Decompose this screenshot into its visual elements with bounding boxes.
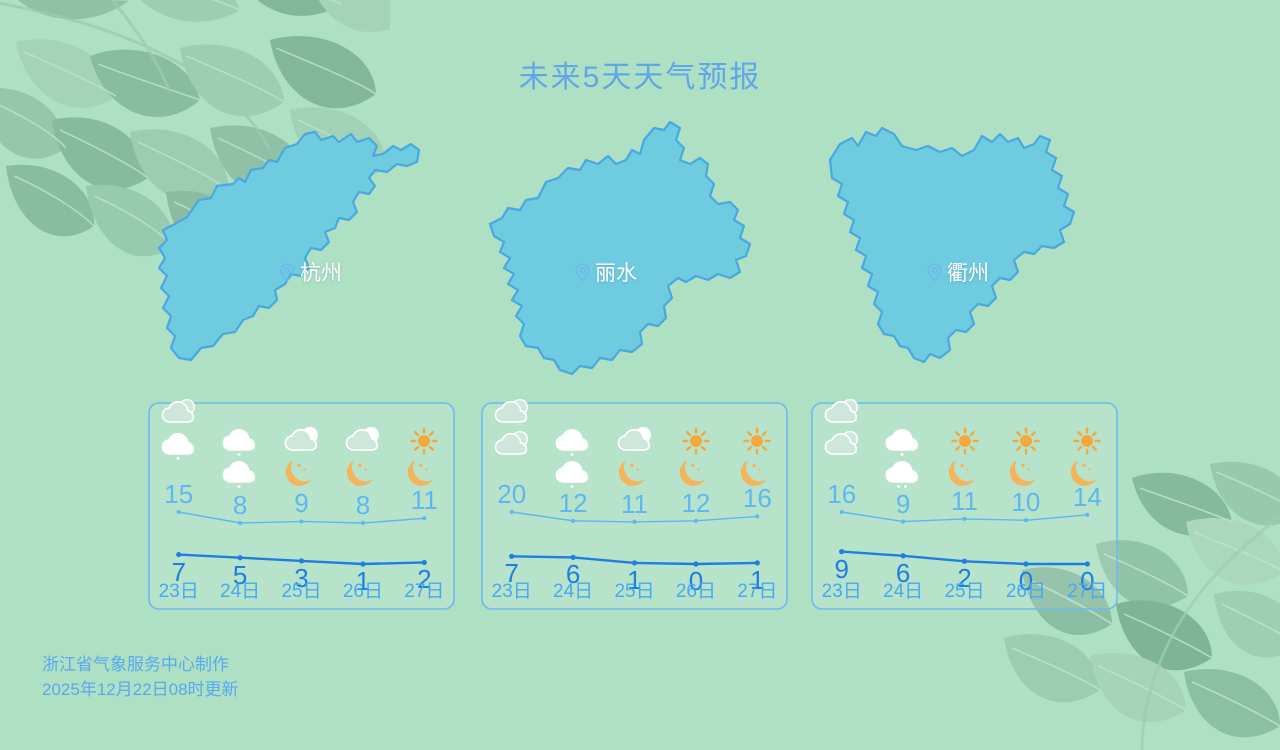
city-name: 丽水	[595, 257, 637, 287]
quzhou-map-shape	[812, 120, 1152, 390]
night-weather-icon	[492, 430, 532, 462]
forecast-day: 11125日	[604, 402, 665, 610]
forecast-day: 12026日	[665, 402, 726, 610]
date-label: 25日	[281, 576, 321, 603]
forecast-day-row: 16923日9624日11225日10026日14027日	[811, 402, 1118, 610]
high-temperature: 12	[681, 488, 710, 519]
infographic-canvas: 未来5天天气预报 杭州 丽水	[0, 0, 1280, 720]
night-weather-icon	[343, 458, 383, 490]
forecast-panel-hangzhou: 15723日8524日9325日8126日11227日	[148, 402, 455, 610]
day-weather-icon	[945, 426, 985, 458]
city-label-hangzhou: 杭州	[280, 257, 342, 287]
forecast-day: 11225日	[934, 402, 995, 610]
forecast-day: 16923日	[811, 402, 872, 610]
night-weather-icon	[282, 458, 322, 490]
high-temperature: 20	[497, 479, 526, 510]
high-temperature: 8	[233, 490, 247, 521]
date-label: 25日	[944, 576, 984, 603]
forecast-day: 10026日	[995, 402, 1056, 610]
night-weather-icon	[1006, 458, 1046, 490]
date-label: 26日	[343, 576, 383, 603]
cloudy-icon	[822, 398, 862, 430]
date-label: 27日	[737, 576, 777, 603]
sun-icon	[737, 426, 777, 458]
day-weather-icon	[1067, 426, 1107, 458]
date-label: 24日	[553, 576, 593, 603]
date-label: 23日	[159, 576, 199, 603]
forecast-day: 16127日	[727, 402, 788, 610]
footer-line-1: 浙江省气象服务中心制作	[42, 652, 239, 677]
night-weather-icon	[615, 458, 655, 490]
high-temperature: 11	[411, 485, 438, 516]
forecast-day-row: 20723日12624日11125日12026日16127日	[481, 402, 788, 610]
moon-icon	[676, 458, 716, 490]
date-label: 24日	[220, 576, 260, 603]
date-label: 27日	[404, 576, 444, 603]
rain-icon	[883, 426, 923, 458]
moon-icon	[343, 458, 383, 490]
day-weather-icon	[822, 398, 862, 430]
day-weather-icon	[737, 426, 777, 458]
partly-cloudy-icon	[282, 426, 322, 458]
high-temperature: 11	[621, 489, 648, 520]
city-label-lishui: 丽水	[575, 257, 637, 287]
high-temperature: 16	[827, 479, 856, 510]
rain-icon	[220, 426, 260, 458]
sun-icon	[404, 426, 444, 458]
day-weather-icon	[553, 426, 593, 458]
forecast-panel-quzhou: 16923日9624日11225日10026日14027日	[811, 402, 1118, 610]
date-label: 23日	[822, 576, 862, 603]
forecast-panel-lishui: 20723日12624日11125日12026日16127日	[481, 402, 788, 610]
hangzhou-map-shape	[125, 120, 465, 390]
partly-cloudy-icon	[615, 426, 655, 458]
day-weather-icon	[883, 426, 923, 458]
high-temperature: 15	[164, 479, 193, 510]
day-weather-icon	[282, 426, 322, 458]
night-weather-icon	[883, 458, 923, 490]
location-pin-icon	[575, 263, 590, 282]
night-weather-icon	[220, 458, 260, 490]
forecast-day: 9624日	[872, 402, 933, 610]
forecast-day: 14027日	[1057, 402, 1118, 610]
city-name: 杭州	[300, 257, 342, 287]
map-block-lishui: 丽水	[468, 120, 808, 390]
forecast-day: 11227日	[394, 402, 455, 610]
day-weather-icon	[159, 398, 199, 430]
partly-cloudy-icon	[343, 426, 383, 458]
rain-icon	[553, 458, 593, 490]
snow-icon	[883, 458, 923, 490]
forecast-day-row: 15723日8524日9325日8126日11227日	[148, 402, 455, 610]
high-temperature: 10	[1011, 487, 1040, 518]
sun-icon	[945, 426, 985, 458]
night-weather-icon	[676, 458, 716, 490]
footer-credits: 浙江省气象服务中心制作 2025年12月22日08时更新	[42, 652, 239, 702]
date-label: 26日	[676, 576, 716, 603]
rain-icon	[553, 426, 593, 458]
rain-icon	[159, 430, 199, 462]
moon-icon	[282, 458, 322, 490]
day-weather-icon	[343, 426, 383, 458]
footer-line-2: 2025年12月22日08时更新	[42, 677, 239, 702]
high-temperature: 9	[896, 489, 910, 520]
date-label: 27日	[1067, 576, 1107, 603]
cloudy-icon	[159, 398, 199, 430]
forecast-day: 15723日	[148, 402, 209, 610]
high-temperature: 8	[356, 490, 370, 521]
map-block-quzhou: 衢州	[812, 120, 1152, 390]
location-pin-icon	[927, 263, 942, 282]
moon-icon	[615, 458, 655, 490]
night-weather-icon	[159, 430, 199, 462]
cloudy-icon	[492, 430, 532, 462]
lishui-map-shape	[468, 120, 808, 390]
date-label: 26日	[1006, 576, 1046, 603]
high-temperature: 12	[559, 488, 588, 519]
sun-icon	[1006, 426, 1046, 458]
high-temperature: 9	[294, 488, 308, 519]
city-name: 衢州	[947, 257, 989, 287]
day-weather-icon	[615, 426, 655, 458]
forecast-day: 8126日	[332, 402, 393, 610]
day-weather-icon	[220, 426, 260, 458]
high-temperature: 14	[1073, 482, 1102, 513]
date-label: 24日	[883, 576, 923, 603]
cloudy-icon	[492, 398, 532, 430]
rain-icon	[220, 458, 260, 490]
day-weather-icon	[492, 398, 532, 430]
date-label: 23日	[492, 576, 532, 603]
sun-icon	[676, 426, 716, 458]
page-title: 未来5天天气预报	[0, 52, 1280, 96]
day-weather-icon	[1006, 426, 1046, 458]
city-label-quzhou: 衢州	[927, 257, 989, 287]
forecast-day: 9325日	[271, 402, 332, 610]
forecast-day: 20723日	[481, 402, 542, 610]
high-temperature: 11	[951, 486, 978, 517]
high-temperature: 16	[743, 483, 772, 514]
forecast-day: 12624日	[542, 402, 603, 610]
day-weather-icon	[676, 426, 716, 458]
location-pin-icon	[280, 263, 295, 282]
day-weather-icon	[404, 426, 444, 458]
night-weather-icon	[822, 430, 862, 462]
sun-icon	[1067, 426, 1107, 458]
moon-icon	[1006, 458, 1046, 490]
date-label: 25日	[614, 576, 654, 603]
forecast-day: 8524日	[209, 402, 270, 610]
night-weather-icon	[553, 458, 593, 490]
cloudy-icon	[822, 430, 862, 462]
map-block-hangzhou: 杭州	[125, 120, 465, 390]
